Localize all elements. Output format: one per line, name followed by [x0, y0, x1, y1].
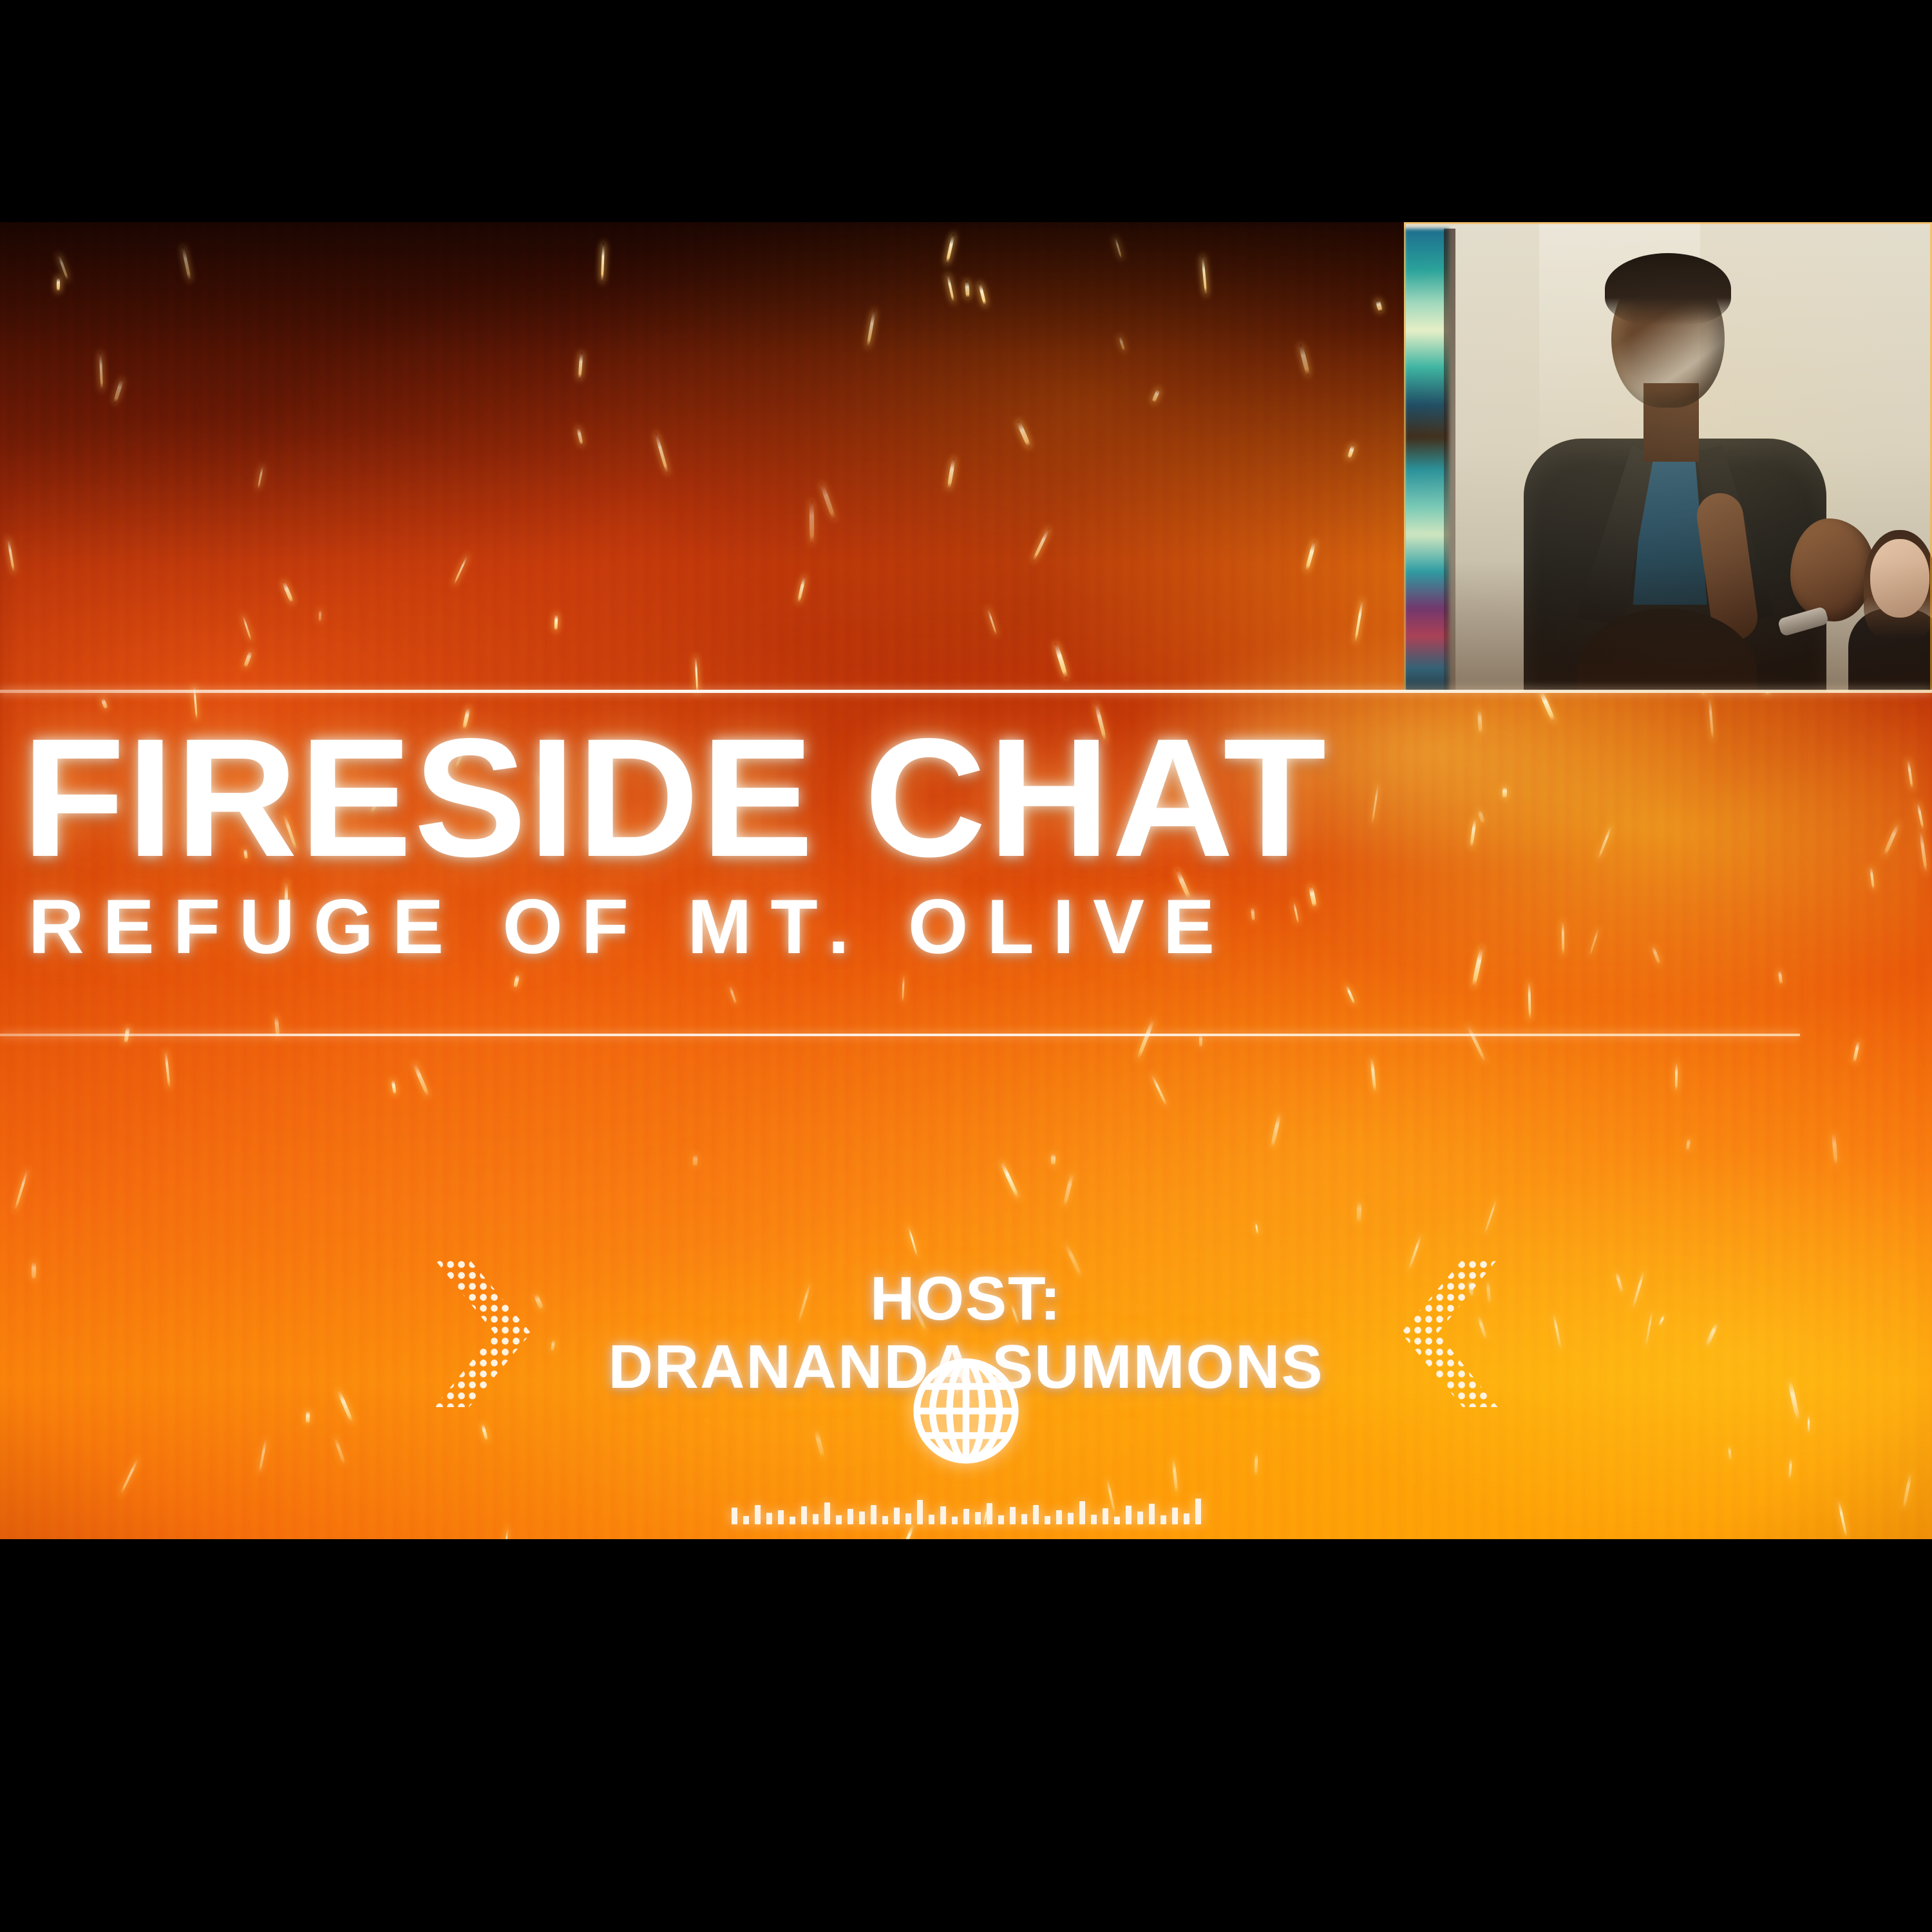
waveform-bar [952, 1517, 958, 1524]
spark-particle [57, 277, 60, 292]
host-label: HOST: [608, 1265, 1323, 1333]
waveform-bar [1137, 1511, 1143, 1524]
spark-particle [1685, 1138, 1690, 1151]
waveform-bar [755, 1505, 761, 1524]
spark-particle [576, 427, 583, 446]
spark-particle [1016, 420, 1032, 448]
spark-particle [902, 974, 905, 1003]
spark-particle [866, 310, 876, 348]
waveform-bar [1010, 1507, 1016, 1524]
spark-particle [797, 576, 806, 603]
spark-particle [1484, 1198, 1498, 1235]
waveform-bar [813, 1514, 819, 1524]
spark-particle [965, 281, 970, 298]
spark-particle [907, 1226, 918, 1257]
spark-particle [113, 378, 124, 404]
waveform-bar [1021, 1514, 1027, 1524]
waveform-bar [1056, 1510, 1062, 1524]
spark-particle [1054, 642, 1069, 679]
letterbox-bar-top [0, 0, 1932, 222]
spark-particle [654, 433, 669, 475]
spark-particle [257, 465, 263, 489]
waveform-bar [824, 1502, 830, 1524]
spark-particle [1356, 1201, 1361, 1223]
spark-particle [601, 243, 605, 282]
spark-particle [898, 1522, 915, 1539]
spark-particle [1150, 1074, 1168, 1107]
waveform-bar [848, 1509, 853, 1524]
spark-particle [181, 246, 191, 281]
spark-particle [695, 656, 699, 694]
spark-particle [728, 985, 737, 1005]
spark-particle [1114, 236, 1122, 260]
spark-particle [1151, 388, 1161, 403]
spark-particle [241, 614, 252, 642]
waveform-bar [905, 1513, 911, 1524]
waveform-bar [836, 1515, 842, 1524]
waveform-bar [790, 1517, 795, 1524]
spark-particle [693, 1154, 697, 1167]
spark-particle [819, 482, 837, 521]
show-title: FIRESIDE CHAT [0, 712, 1932, 884]
spark-particle [319, 609, 322, 622]
divider-rule-middle [0, 1034, 1800, 1036]
spark-particle [1852, 1040, 1860, 1063]
spark-particle [987, 608, 998, 636]
spark-particle [1777, 970, 1783, 985]
waveform-bar [929, 1515, 934, 1524]
waveform-bar [1079, 1501, 1085, 1524]
spark-particle [1347, 444, 1356, 459]
title-block: FIRESIDE CHAT REFUGE OF MT. OLIVE [0, 712, 1932, 969]
waveform-bar [963, 1509, 969, 1524]
audio-waveform-icon [732, 1496, 1201, 1524]
spark-particle [1051, 1153, 1056, 1166]
letterbox-bar-bottom [0, 1539, 1932, 1932]
waveform-bar [998, 1515, 1004, 1524]
waveform-bar [1195, 1499, 1201, 1524]
spark-particle [578, 352, 583, 379]
waveform-bar [1114, 1517, 1120, 1524]
waveform-bar [766, 1513, 772, 1524]
spark-particle [1270, 1113, 1282, 1149]
photo-color-grade [1404, 222, 1932, 692]
spark-particle [1345, 985, 1356, 1005]
waveform-bar [871, 1505, 876, 1524]
waveform-bar [1149, 1504, 1155, 1524]
video-frame: FIRESIDE CHAT REFUGE OF MT. OLIVE HOST: … [0, 222, 1932, 1539]
waveform-bar [882, 1516, 888, 1524]
waveform-bar [975, 1512, 981, 1524]
waveform-bar [801, 1506, 807, 1524]
waveform-bar [778, 1510, 784, 1524]
video-player-stage: FIRESIDE CHAT REFUGE OF MT. OLIVE HOST: … [0, 0, 1932, 1932]
spark-particle [999, 1160, 1020, 1200]
waveform-bar [732, 1508, 737, 1524]
speaker-photo-inset [1404, 222, 1932, 692]
logo-block [0, 1343, 1932, 1524]
spark-particle [6, 538, 15, 573]
waveform-bar [1045, 1516, 1050, 1524]
waveform-bar [940, 1506, 946, 1524]
waveform-bar [1160, 1515, 1166, 1524]
spark-particle [947, 458, 956, 490]
show-subtitle: REFUGE OF MT. OLIVE [0, 884, 1932, 969]
spark-particle [164, 1050, 171, 1089]
waveform-bar [1172, 1508, 1178, 1524]
waveform-bar [894, 1508, 900, 1524]
spark-particle [1528, 981, 1531, 1020]
spark-particle [453, 554, 468, 585]
spark-particle [1032, 527, 1050, 562]
spark-particle [810, 500, 814, 544]
spark-particle [554, 614, 558, 631]
spark-particle [281, 580, 294, 603]
waveform-bar [917, 1500, 923, 1524]
spark-particle [1466, 1024, 1486, 1063]
spark-particle [1136, 1018, 1155, 1060]
waveform-bar [987, 1503, 992, 1524]
waveform-bar [1126, 1506, 1132, 1524]
spark-particle [1675, 1062, 1678, 1092]
waveform-bar [859, 1511, 865, 1524]
spark-particle [243, 650, 253, 668]
spark-particle [391, 1079, 397, 1095]
spark-particle [945, 234, 955, 264]
spark-particle [14, 1168, 29, 1211]
waveform-bar [1091, 1515, 1097, 1524]
waveform-bar [1103, 1508, 1108, 1524]
spark-particle [946, 274, 955, 303]
spark-particle [1376, 299, 1383, 312]
waveform-bar [743, 1516, 749, 1524]
spark-particle [1118, 336, 1125, 352]
spark-particle [978, 283, 987, 306]
spark-particle [1298, 344, 1311, 376]
divider-rule-top [0, 690, 1932, 693]
spark-particle [412, 1061, 431, 1098]
spark-particle [1354, 599, 1363, 643]
waveform-bar [1184, 1513, 1189, 1524]
spark-particle [1305, 540, 1317, 572]
spark-particle [1201, 256, 1207, 296]
spark-particle [1063, 1172, 1075, 1207]
spark-particle [1255, 1222, 1258, 1235]
spark-particle [99, 352, 103, 390]
globe-icon [898, 1343, 1034, 1479]
waveform-bar [1068, 1513, 1074, 1524]
spark-particle [1370, 1057, 1377, 1093]
spark-particle [1832, 1132, 1838, 1166]
spark-particle [503, 1527, 509, 1539]
waveform-bar [1033, 1505, 1039, 1524]
spark-particle [513, 974, 520, 989]
